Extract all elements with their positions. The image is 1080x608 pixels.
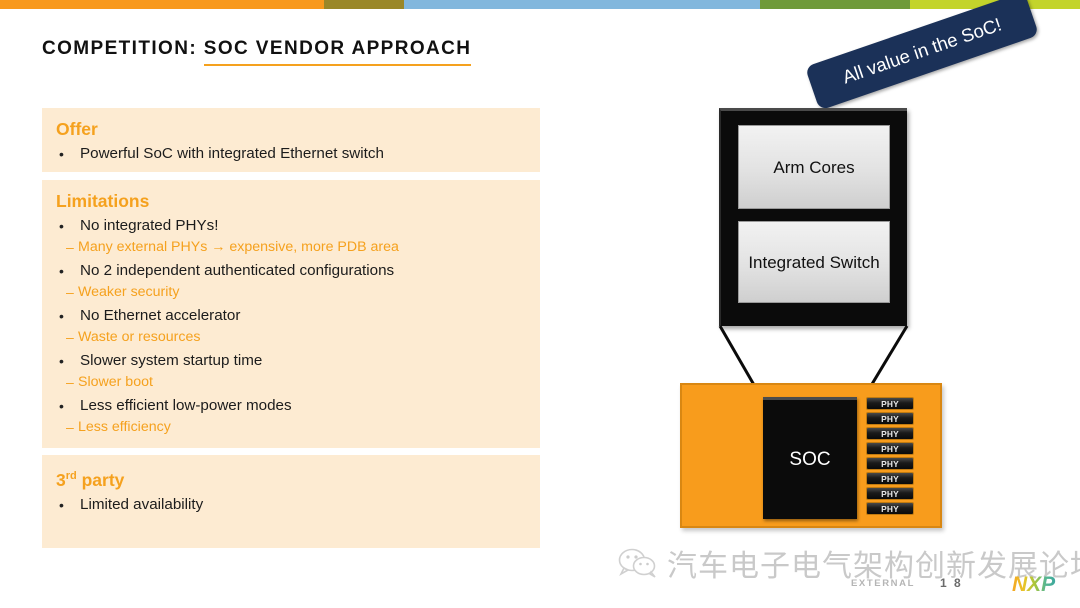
bullet-text: No 2 independent authenticated configura… xyxy=(80,260,394,282)
bullet-item: •No 2 independent authenticated configur… xyxy=(56,260,526,282)
callout-banner-label: All value in the SoC! xyxy=(840,13,1005,88)
bullet-marker-icon: • xyxy=(56,305,80,327)
wechat-watermark: 汽车电子电气架构创新发展论坛 xyxy=(618,541,1080,585)
dash-marker-icon: – xyxy=(56,282,78,302)
phy-block: PHY xyxy=(866,427,914,440)
phy-block: PHY xyxy=(866,472,914,485)
callout-banner: All value in the SoC! xyxy=(805,0,1039,111)
dash-marker-icon: – xyxy=(56,372,78,392)
nxp-logo: NXP xyxy=(1012,572,1068,596)
soc-chip: SOC xyxy=(763,397,857,519)
bullet-text: Less efficient low-power modes xyxy=(80,395,292,417)
sub-bullet-item: –Many external PHYs → expensive, more PD… xyxy=(56,237,526,257)
bullet-marker-icon: • xyxy=(56,215,80,237)
bullet-item: •Limited availability xyxy=(56,494,526,516)
bullet-text: Powerful SoC with integrated Ethernet sw… xyxy=(80,143,384,165)
panel-heading-superscript: rd xyxy=(66,470,77,482)
dash-marker-icon: – xyxy=(56,237,78,257)
sub-bullet-item: –Slower boot xyxy=(56,372,526,392)
soc-chip-label: SOC xyxy=(789,449,830,471)
bullet-text: Slower system startup time xyxy=(80,350,262,372)
panel-heading-limitations: Limitations xyxy=(56,191,526,212)
bullet-text: Weaker security xyxy=(78,282,179,302)
bullet-text: No integrated PHYs! xyxy=(80,215,218,237)
phy-block: PHY xyxy=(866,412,914,425)
phy-stack: PHYPHYPHYPHYPHYPHYPHYPHY xyxy=(866,397,914,515)
sub-bullet-item: –Weaker security xyxy=(56,282,526,302)
bullet-marker-icon: • xyxy=(56,143,80,165)
sub-bullet-item: –Waste or resources xyxy=(56,327,526,347)
phy-block: PHY xyxy=(866,442,914,455)
bullet-item: •No integrated PHYs! xyxy=(56,215,526,237)
phy-block: PHY xyxy=(866,397,914,410)
panel-heading-offer: Offer xyxy=(56,119,526,140)
footer-page-number: 1 8 xyxy=(940,576,963,590)
top-bar-segment-olive xyxy=(324,0,404,9)
bullet-marker-icon: • xyxy=(56,350,80,372)
block-integrated-switch: Integrated Switch xyxy=(738,221,890,303)
phy-block: PHY xyxy=(866,502,914,515)
phy-block: PHY xyxy=(866,457,914,470)
dash-marker-icon: – xyxy=(56,327,78,347)
panel-offer: Offer•Powerful SoC with integrated Ether… xyxy=(42,108,540,172)
bullet-item: •Powerful SoC with integrated Ethernet s… xyxy=(56,143,526,165)
svg-text:NXP: NXP xyxy=(1012,573,1056,596)
panel-limitations: Limitations•No integrated PHYs!–Many ext… xyxy=(42,180,540,448)
panel-third-party: 3rd party•Limited availability xyxy=(42,455,540,548)
block-integrated-switch-label: Integrated Switch xyxy=(748,252,879,273)
block-arm-cores-label: Arm Cores xyxy=(773,157,854,178)
bullet-marker-icon: • xyxy=(56,395,80,417)
bullet-text: Many external PHYs → expensive, more PDB… xyxy=(78,237,399,257)
bullet-text: Waste or resources xyxy=(78,327,200,347)
bullet-marker-icon: • xyxy=(56,260,80,282)
bullet-item: •Less efficient low-power modes xyxy=(56,395,526,417)
bullet-text: Slower boot xyxy=(78,372,153,392)
top-bar-segment-green xyxy=(760,0,910,9)
sub-bullet-item: –Less efficiency xyxy=(56,417,526,437)
bullet-item: •Slower system startup time xyxy=(56,350,526,372)
bullet-marker-icon: • xyxy=(56,494,80,516)
panel-heading-thirdparty: 3rd party xyxy=(56,466,526,491)
page-title-prefix: COMPETITION: xyxy=(42,38,204,59)
footer-external-label: EXTERNAL xyxy=(851,578,915,589)
bullet-text: No Ethernet accelerator xyxy=(80,305,240,327)
page-title: COMPETITION: SOC VENDOR APPROACH xyxy=(42,38,471,60)
bullet-text: Limited availability xyxy=(80,494,203,516)
top-bar-segment-light-blue xyxy=(404,0,760,9)
wechat-icon xyxy=(618,548,658,578)
bullet-item: •No Ethernet accelerator xyxy=(56,305,526,327)
top-color-bar xyxy=(0,0,1080,9)
top-bar-segment-orange xyxy=(0,0,324,9)
phy-block: PHY xyxy=(866,487,914,500)
block-arm-cores: Arm Cores xyxy=(738,125,890,209)
bullet-text: Less efficiency xyxy=(78,417,171,437)
soc-enlarged-block: Arm Cores Integrated Switch xyxy=(719,108,907,326)
dash-marker-icon: – xyxy=(56,417,78,437)
page-title-emphasis: SOC VENDOR APPROACH xyxy=(204,38,472,66)
